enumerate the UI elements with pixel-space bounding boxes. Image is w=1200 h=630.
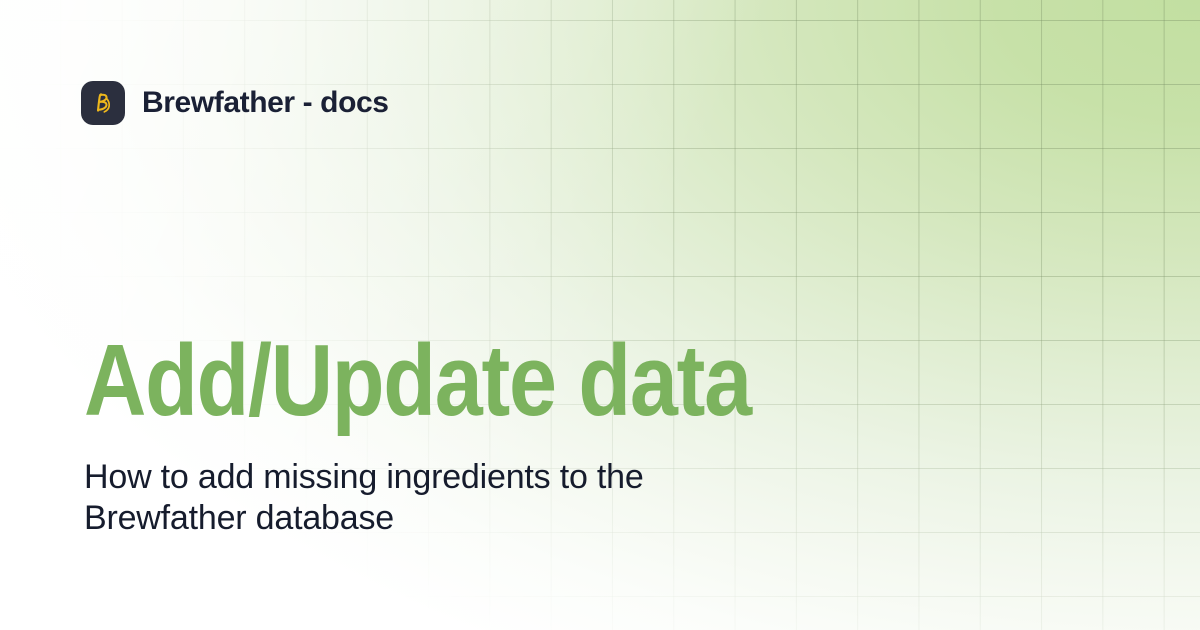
brand-title: Brewfather - docs [142, 88, 389, 118]
brewfather-b-logo-icon [81, 81, 125, 125]
headline-block: Add/Update data How to add missing ingre… [84, 330, 1084, 539]
card-content: Brewfather - docs Add/Update data How to… [0, 0, 1200, 630]
brand-header: Brewfather - docs [81, 81, 389, 125]
og-card: Brewfather - docs Add/Update data How to… [0, 0, 1200, 630]
page-title: Add/Update data [84, 330, 939, 433]
page-subtitle: How to add missing ingredients to the Br… [84, 457, 724, 539]
